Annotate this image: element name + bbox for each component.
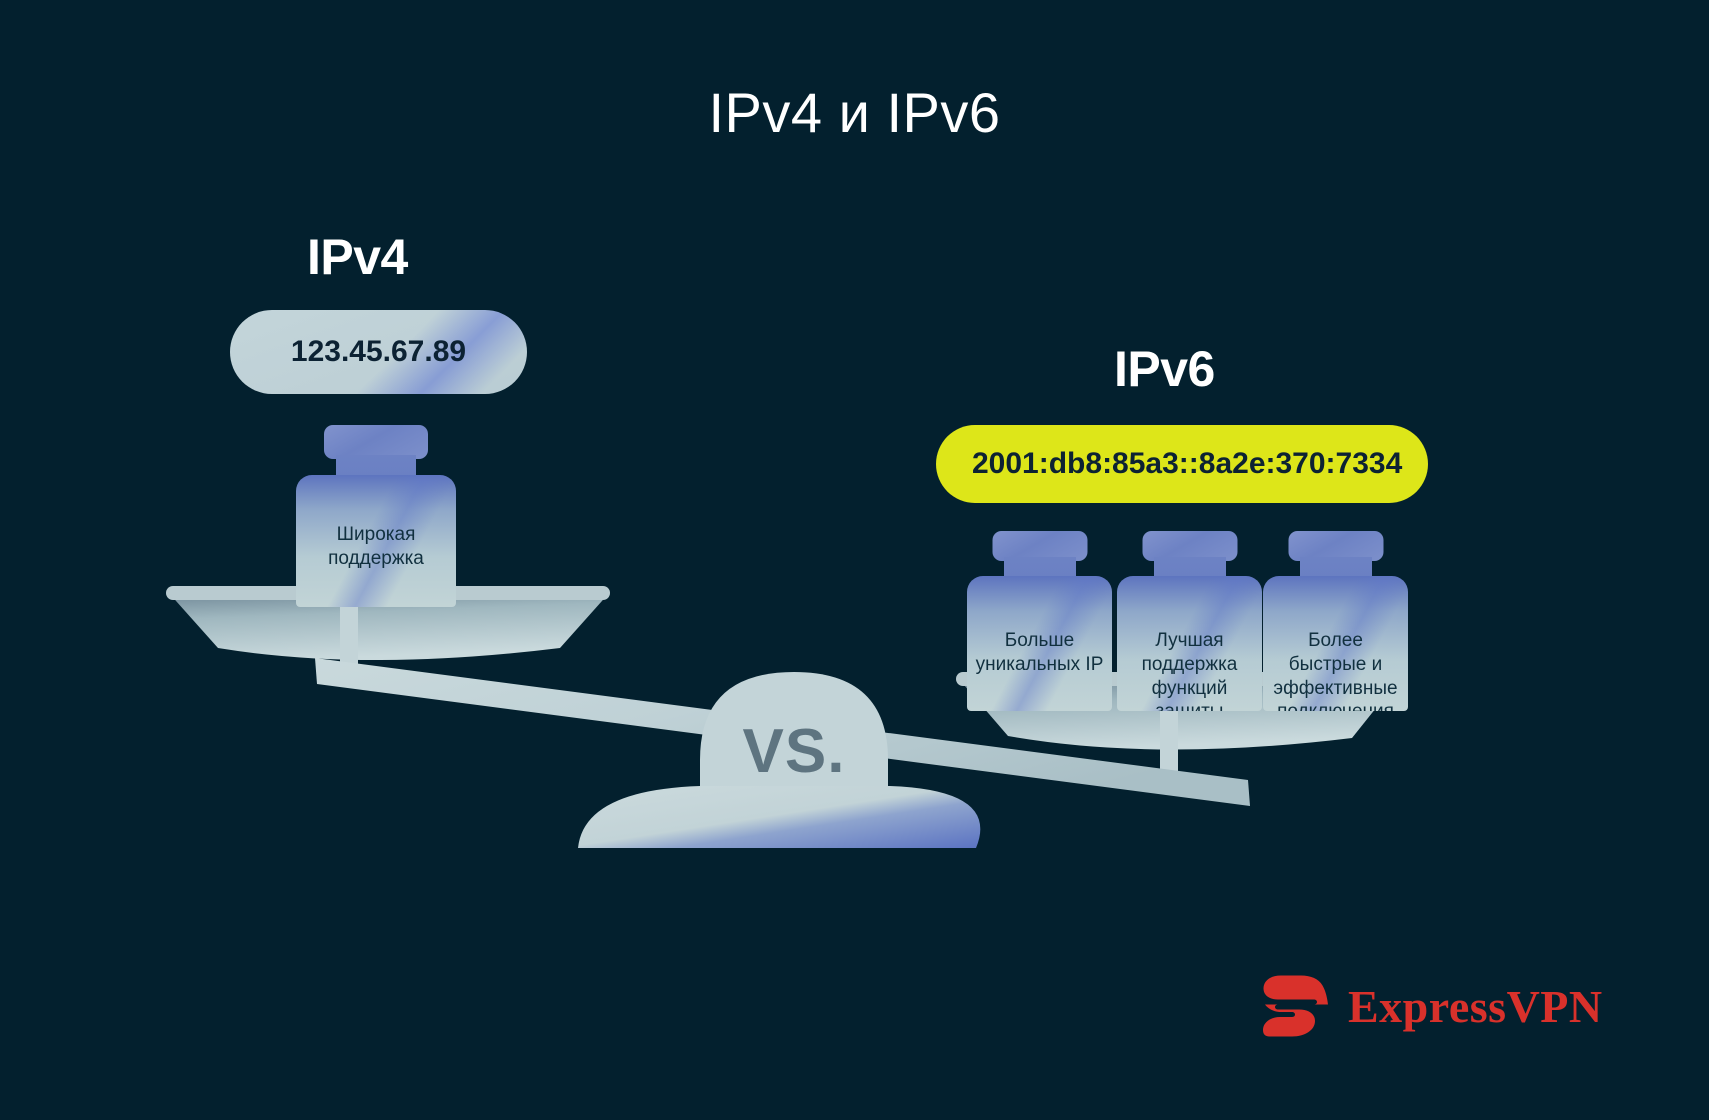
- jar-label: Широкая поддержка: [296, 523, 456, 571]
- vs-label: VS.: [724, 716, 864, 787]
- infographic-canvas: IPv4 и IPv6: [0, 0, 1709, 1120]
- jar-cap-icon: [324, 425, 428, 459]
- jar-body: Широкая поддержка: [296, 475, 456, 607]
- jar-label: Лучшая поддержка функций защиты: [1117, 629, 1262, 711]
- ipv6-address-text: 2001:db8:85a3::8a2e:370:7334: [972, 447, 1402, 481]
- ipv6-benefit-jar-1: Больше уникальных IP: [967, 531, 1112, 686]
- ipv4-benefit-jar: Широкая поддержка: [296, 425, 456, 605]
- jar-body: Более быстрые и эффективные подключения: [1263, 576, 1408, 711]
- expressvpn-logo: ExpressVPN: [1262, 975, 1603, 1037]
- ipv4-address-text: 123.45.67.89: [291, 335, 466, 369]
- jar-label: Более быстрые и эффективные подключения: [1263, 629, 1408, 711]
- jar-body: Лучшая поддержка функций защиты: [1117, 576, 1262, 711]
- ipv6-benefit-jar-2: Лучшая поддержка функций защиты: [1117, 531, 1262, 686]
- ipv6-benefit-jar-3: Более быстрые и эффективные подключения: [1263, 531, 1408, 686]
- ipv4-address-pill: 123.45.67.89: [230, 310, 527, 394]
- ipv4-heading: IPv4: [307, 228, 408, 286]
- expressvpn-e-mark-icon: [1262, 975, 1332, 1037]
- page-title: IPv4 и IPv6: [0, 82, 1709, 144]
- expressvpn-wordmark: ExpressVPN: [1348, 980, 1603, 1033]
- ipv6-heading: IPv6: [1114, 340, 1215, 398]
- scale-base: [578, 786, 980, 848]
- scale-stem-left: [340, 600, 358, 678]
- balance-scale-illustration: [0, 0, 1709, 1120]
- ipv6-address-pill: 2001:db8:85a3::8a2e:370:7334: [936, 425, 1428, 503]
- jar-label: Больше уникальных IP: [967, 629, 1112, 677]
- jar-body: Больше уникальных IP: [967, 576, 1112, 711]
